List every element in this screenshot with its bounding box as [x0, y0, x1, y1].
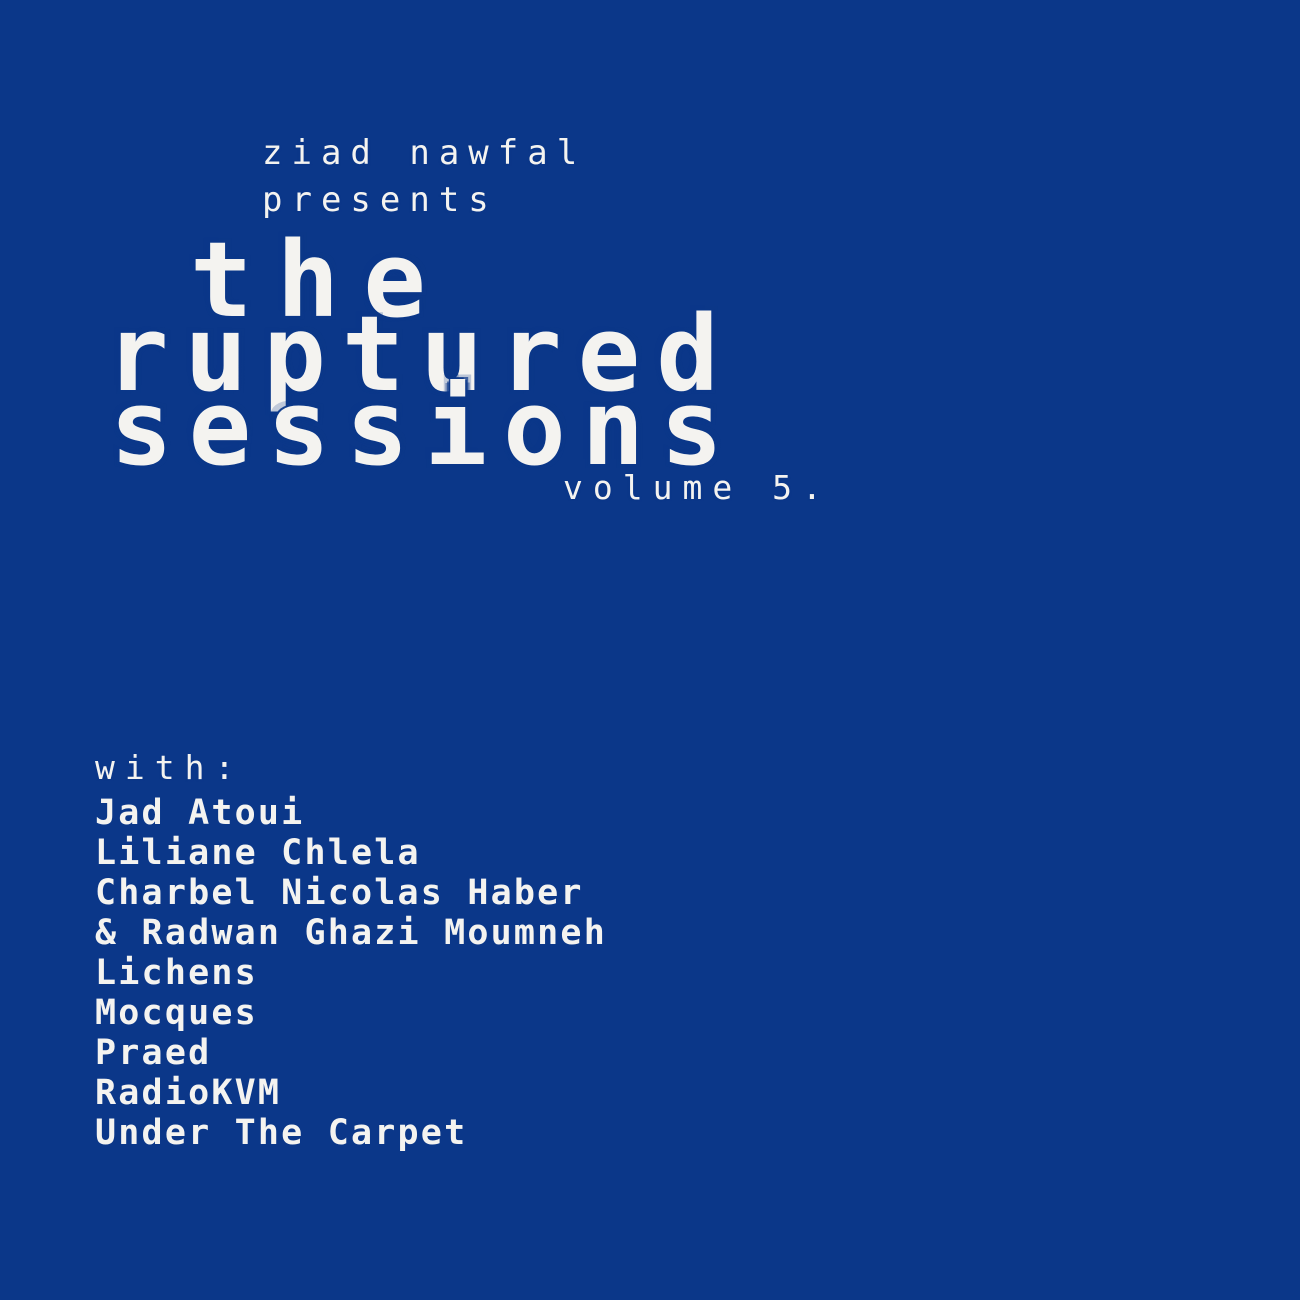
title-line-sessions: sessions: [110, 376, 739, 480]
lineup-artist: Under The Carpet: [95, 1113, 795, 1153]
lineup-artist: RadioKVM: [95, 1073, 795, 1113]
lineup-artist: Liliane Chlela: [95, 833, 795, 873]
lineup-artist: Lichens: [95, 953, 795, 993]
lineup-artist: Praed: [95, 1033, 795, 1073]
credit-presents-label: presents: [262, 180, 498, 220]
lineup-artist: & Radwan Ghazi Moumneh: [95, 913, 795, 953]
lineup-artist: Jad Atoui: [95, 793, 795, 833]
album-cover: ziad nawfal presents the ruptured sessio…: [0, 0, 1300, 1300]
volume-number: volume 5.: [563, 468, 832, 507]
lineup-artist: Mocques: [95, 993, 795, 1033]
lineup-with-label: with:: [95, 748, 795, 787]
credit-artist-name: ziad nawfal: [262, 133, 586, 173]
lineup-artist: Charbel Nicolas Haber: [95, 873, 795, 913]
lineup-block: with: Jad Atoui Liliane Chlela Charbel N…: [95, 748, 795, 1153]
